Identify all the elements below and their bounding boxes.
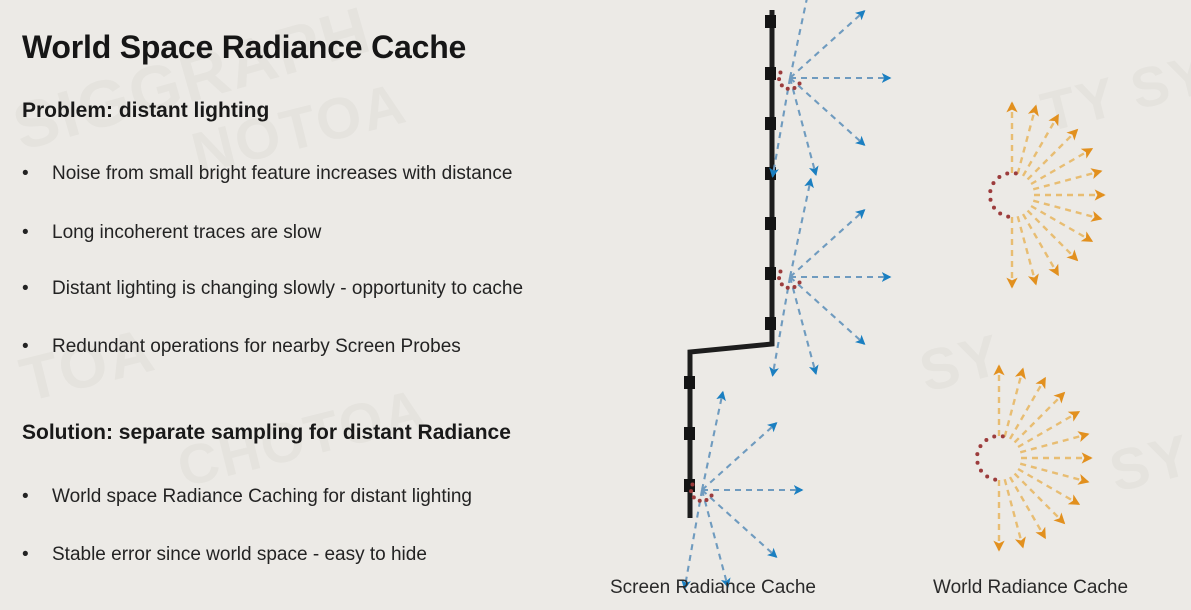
- screen-sample-dot: [792, 86, 796, 90]
- screen-probe: [685, 392, 802, 588]
- screen-ray: [790, 78, 816, 175]
- world-sample-dot: [992, 435, 996, 439]
- screen-ray: [702, 490, 728, 587]
- screen-probe: [773, 0, 890, 176]
- wall-line: [690, 10, 772, 518]
- world-sample-dot: [993, 478, 997, 482]
- probe-marker-icon: [684, 376, 695, 389]
- world-sample-dot: [1005, 172, 1009, 176]
- screen-sample-dot: [777, 276, 781, 280]
- world-ray: [1015, 393, 1064, 442]
- probe-marker-icon: [765, 317, 776, 330]
- world-ray: [1023, 214, 1058, 275]
- solution-heading: Solution: separate sampling for distant …: [22, 421, 511, 445]
- problem-bullet-2-text: Distant lighting is changing slowly - op…: [52, 278, 523, 299]
- solution-bullet-1: •Stable error since world space - easy t…: [22, 544, 427, 566]
- screen-ray: [702, 423, 776, 490]
- wall-geometry: [690, 10, 772, 518]
- slide-root: SIGGRAPHNOTOATOACHOTOASYTY SYSY World Sp…: [0, 0, 1191, 610]
- bullet-marker-icon: •: [22, 163, 52, 185]
- world-sample-dot: [988, 189, 992, 193]
- world-sample-dot: [1001, 434, 1005, 438]
- background-watermark: TY SY: [1035, 40, 1191, 144]
- world-ray: [1028, 130, 1077, 179]
- world-sample-dot: [976, 461, 980, 465]
- screen-sample-dot: [786, 87, 790, 91]
- solution-bullet-0: •World space Radiance Caching for distan…: [22, 486, 472, 508]
- screen-sample-dot: [710, 494, 714, 498]
- screen-sample-dot: [698, 499, 702, 503]
- probe-marker-icon: [765, 217, 776, 230]
- screen-sample-dot: [778, 71, 782, 75]
- screen-ray: [790, 277, 864, 344]
- screen-ray: [790, 179, 811, 277]
- probe-marker-icon: [684, 479, 695, 492]
- world-ray: [1031, 206, 1092, 241]
- world-sample-dot: [991, 181, 995, 185]
- background-watermark: SIGGRAPH: [5, 0, 380, 165]
- world-sample-dot: [998, 212, 1002, 216]
- problem-bullet-0-text: Noise from small bright feature increase…: [52, 163, 512, 184]
- probe-marker-icon: [765, 117, 776, 130]
- screen-radiance-cache-caption: Screen Radiance Cache: [610, 577, 816, 599]
- world-ray: [1033, 171, 1101, 189]
- screen-sample-dot: [792, 285, 796, 289]
- bullet-marker-icon: •: [22, 336, 52, 358]
- screen-ray: [790, 277, 816, 374]
- screen-ray: [790, 11, 864, 78]
- screen-sample-dot: [780, 83, 784, 87]
- probe-marker-icon: [765, 267, 776, 280]
- screen-ray: [790, 0, 811, 78]
- world-ray: [1018, 469, 1079, 504]
- world-ray: [1010, 477, 1045, 538]
- probe-marker-icon: [684, 427, 695, 440]
- page-title: World Space Radiance Cache: [22, 29, 466, 66]
- world-probe: [988, 103, 1104, 287]
- screen-sample-dot: [786, 286, 790, 290]
- world-ray: [1005, 369, 1023, 437]
- screen-sample-dot: [798, 82, 802, 86]
- problem-bullet-3-text: Redundant operations for nearby Screen P…: [52, 336, 461, 357]
- world-ray: [1031, 149, 1092, 184]
- screen-sample-dot: [777, 77, 781, 81]
- world-sample-dot: [992, 206, 996, 210]
- probe-marker-icon: [765, 167, 776, 180]
- problem-bullet-1-text: Long incoherent traces are slow: [52, 222, 321, 243]
- screen-ray: [702, 490, 776, 557]
- world-sample-dot: [1006, 215, 1010, 219]
- screen-sample-dot: [692, 495, 696, 499]
- screen-ray: [790, 78, 864, 145]
- screen-sample-dot: [778, 270, 782, 274]
- screen-ray: [702, 392, 723, 490]
- world-sample-dot: [984, 438, 988, 442]
- screen-sample-dot: [690, 483, 694, 487]
- world-ray: [1010, 378, 1045, 439]
- screen-ray: [685, 490, 702, 588]
- world-ray: [1015, 474, 1064, 523]
- world-ray: [1033, 201, 1101, 219]
- screen-sample-dot: [689, 489, 693, 493]
- problem-bullet-2: •Distant lighting is changing slowly - o…: [22, 278, 523, 300]
- world-ray: [1023, 115, 1058, 176]
- background-watermark: SY: [913, 321, 1008, 406]
- world-sample-dot: [989, 198, 993, 202]
- world-sample-dot: [975, 452, 979, 456]
- probe-marker-group: [684, 15, 776, 492]
- solution-bullet-0-text: World space Radiance Caching for distant…: [52, 486, 472, 507]
- background-watermark: TOA: [13, 315, 162, 417]
- world-ray: [1018, 106, 1036, 174]
- world-ray: [1018, 412, 1079, 447]
- screen-ray: [790, 210, 864, 277]
- problem-bullet-1: •Long incoherent traces are slow: [22, 222, 321, 244]
- solution-bullet-1-text: Stable error since world space - easy to…: [52, 544, 427, 565]
- world-ray: [1005, 479, 1023, 547]
- radiance-cache-diagram: [0, 0, 1191, 610]
- world-sample-dot: [978, 444, 982, 448]
- world-ray: [1020, 434, 1088, 452]
- screen-sample-dot: [798, 281, 802, 285]
- screen-radiance-cache-probes: [685, 0, 890, 588]
- world-sample-dot: [979, 469, 983, 473]
- problem-bullet-3: •Redundant operations for nearby Screen …: [22, 336, 461, 358]
- problem-heading: Problem: distant lighting: [22, 99, 269, 123]
- world-probe: [975, 366, 1091, 550]
- world-sample-dot: [1014, 171, 1018, 175]
- world-ray: [1020, 464, 1088, 482]
- screen-sample-dot: [704, 498, 708, 502]
- world-radiance-cache-caption: World Radiance Cache: [933, 577, 1128, 599]
- probe-marker-icon: [765, 67, 776, 80]
- screen-sample-dot: [780, 282, 784, 286]
- world-ray: [1018, 216, 1036, 284]
- world-ray: [1028, 211, 1077, 260]
- screen-ray: [773, 78, 790, 176]
- background-watermark: SY: [1103, 421, 1191, 506]
- screen-ray: [773, 277, 790, 375]
- world-radiance-cache-probes: [975, 103, 1104, 550]
- bullet-marker-icon: •: [22, 486, 52, 508]
- problem-bullet-0: •Noise from small bright feature increas…: [22, 163, 512, 185]
- bullet-marker-icon: •: [22, 278, 52, 300]
- bullet-marker-icon: •: [22, 222, 52, 244]
- world-sample-dot: [985, 475, 989, 479]
- bullet-marker-icon: •: [22, 544, 52, 566]
- probe-marker-icon: [765, 15, 776, 28]
- world-sample-dot: [997, 175, 1001, 179]
- screen-probe: [773, 179, 890, 375]
